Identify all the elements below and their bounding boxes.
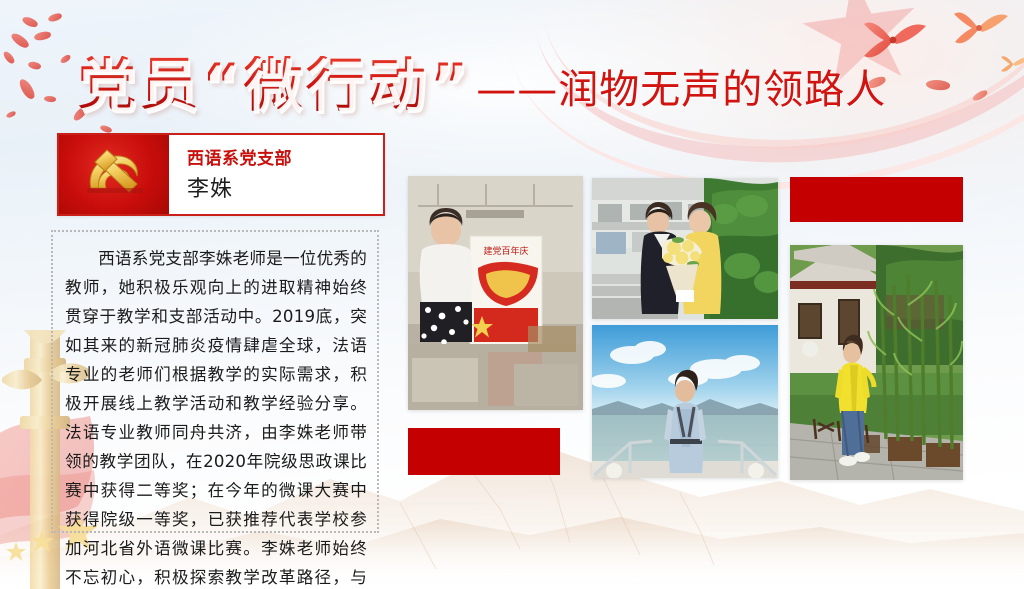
petal-icon (21, 15, 39, 30)
petal-icon (34, 31, 52, 41)
petal-icon (27, 60, 42, 71)
poster-canvas: 党员“微行动” ——润物无声的领路人 (0, 0, 1024, 589)
petal-icon (5, 110, 16, 118)
department-label: 西语系党支部 (187, 144, 383, 169)
description-box: 西语系党支部李姝老师是一位优秀的教师，她积极乐观向上的进取精神始终贯穿于教学和支… (51, 230, 379, 533)
member-info: 西语系党支部 李姝 (169, 135, 383, 214)
photo-bamboo-garden[interactable] (790, 245, 963, 480)
page-title: 党员“微行动” (78, 56, 472, 114)
photo-graduation-flowers[interactable] (592, 178, 778, 319)
cpc-emblem-icon (59, 135, 169, 214)
petal-icon (59, 54, 72, 65)
petal-icon (9, 31, 30, 51)
petal-icon (47, 12, 62, 22)
svg-text:建党百年庆: 建党百年庆 (483, 245, 528, 257)
person-name-label: 李姝 (187, 171, 383, 203)
dove-icon (1000, 54, 1024, 74)
petal-icon (971, 89, 988, 102)
redblock-top-right (790, 177, 963, 222)
petal-icon (2, 50, 16, 65)
photo-boat-lake[interactable] (592, 325, 778, 478)
dove-icon (952, 8, 1010, 48)
description-text: 西语系党支部李姝老师是一位优秀的教师，她积极乐观向上的进取精神始终贯穿于教学和支… (65, 244, 367, 589)
photo-teacher-banner[interactable]: 建党百年庆 (408, 176, 583, 410)
page-subtitle: ——润物无声的领路人 (476, 70, 886, 110)
redblock-bottom-left (408, 428, 560, 475)
petal-icon (44, 95, 57, 103)
poster-title-row: 党员“微行动” ——润物无声的领路人 (78, 34, 958, 114)
member-name-card: 西语系党支部 李姝 (57, 133, 385, 216)
petal-icon (17, 77, 36, 101)
